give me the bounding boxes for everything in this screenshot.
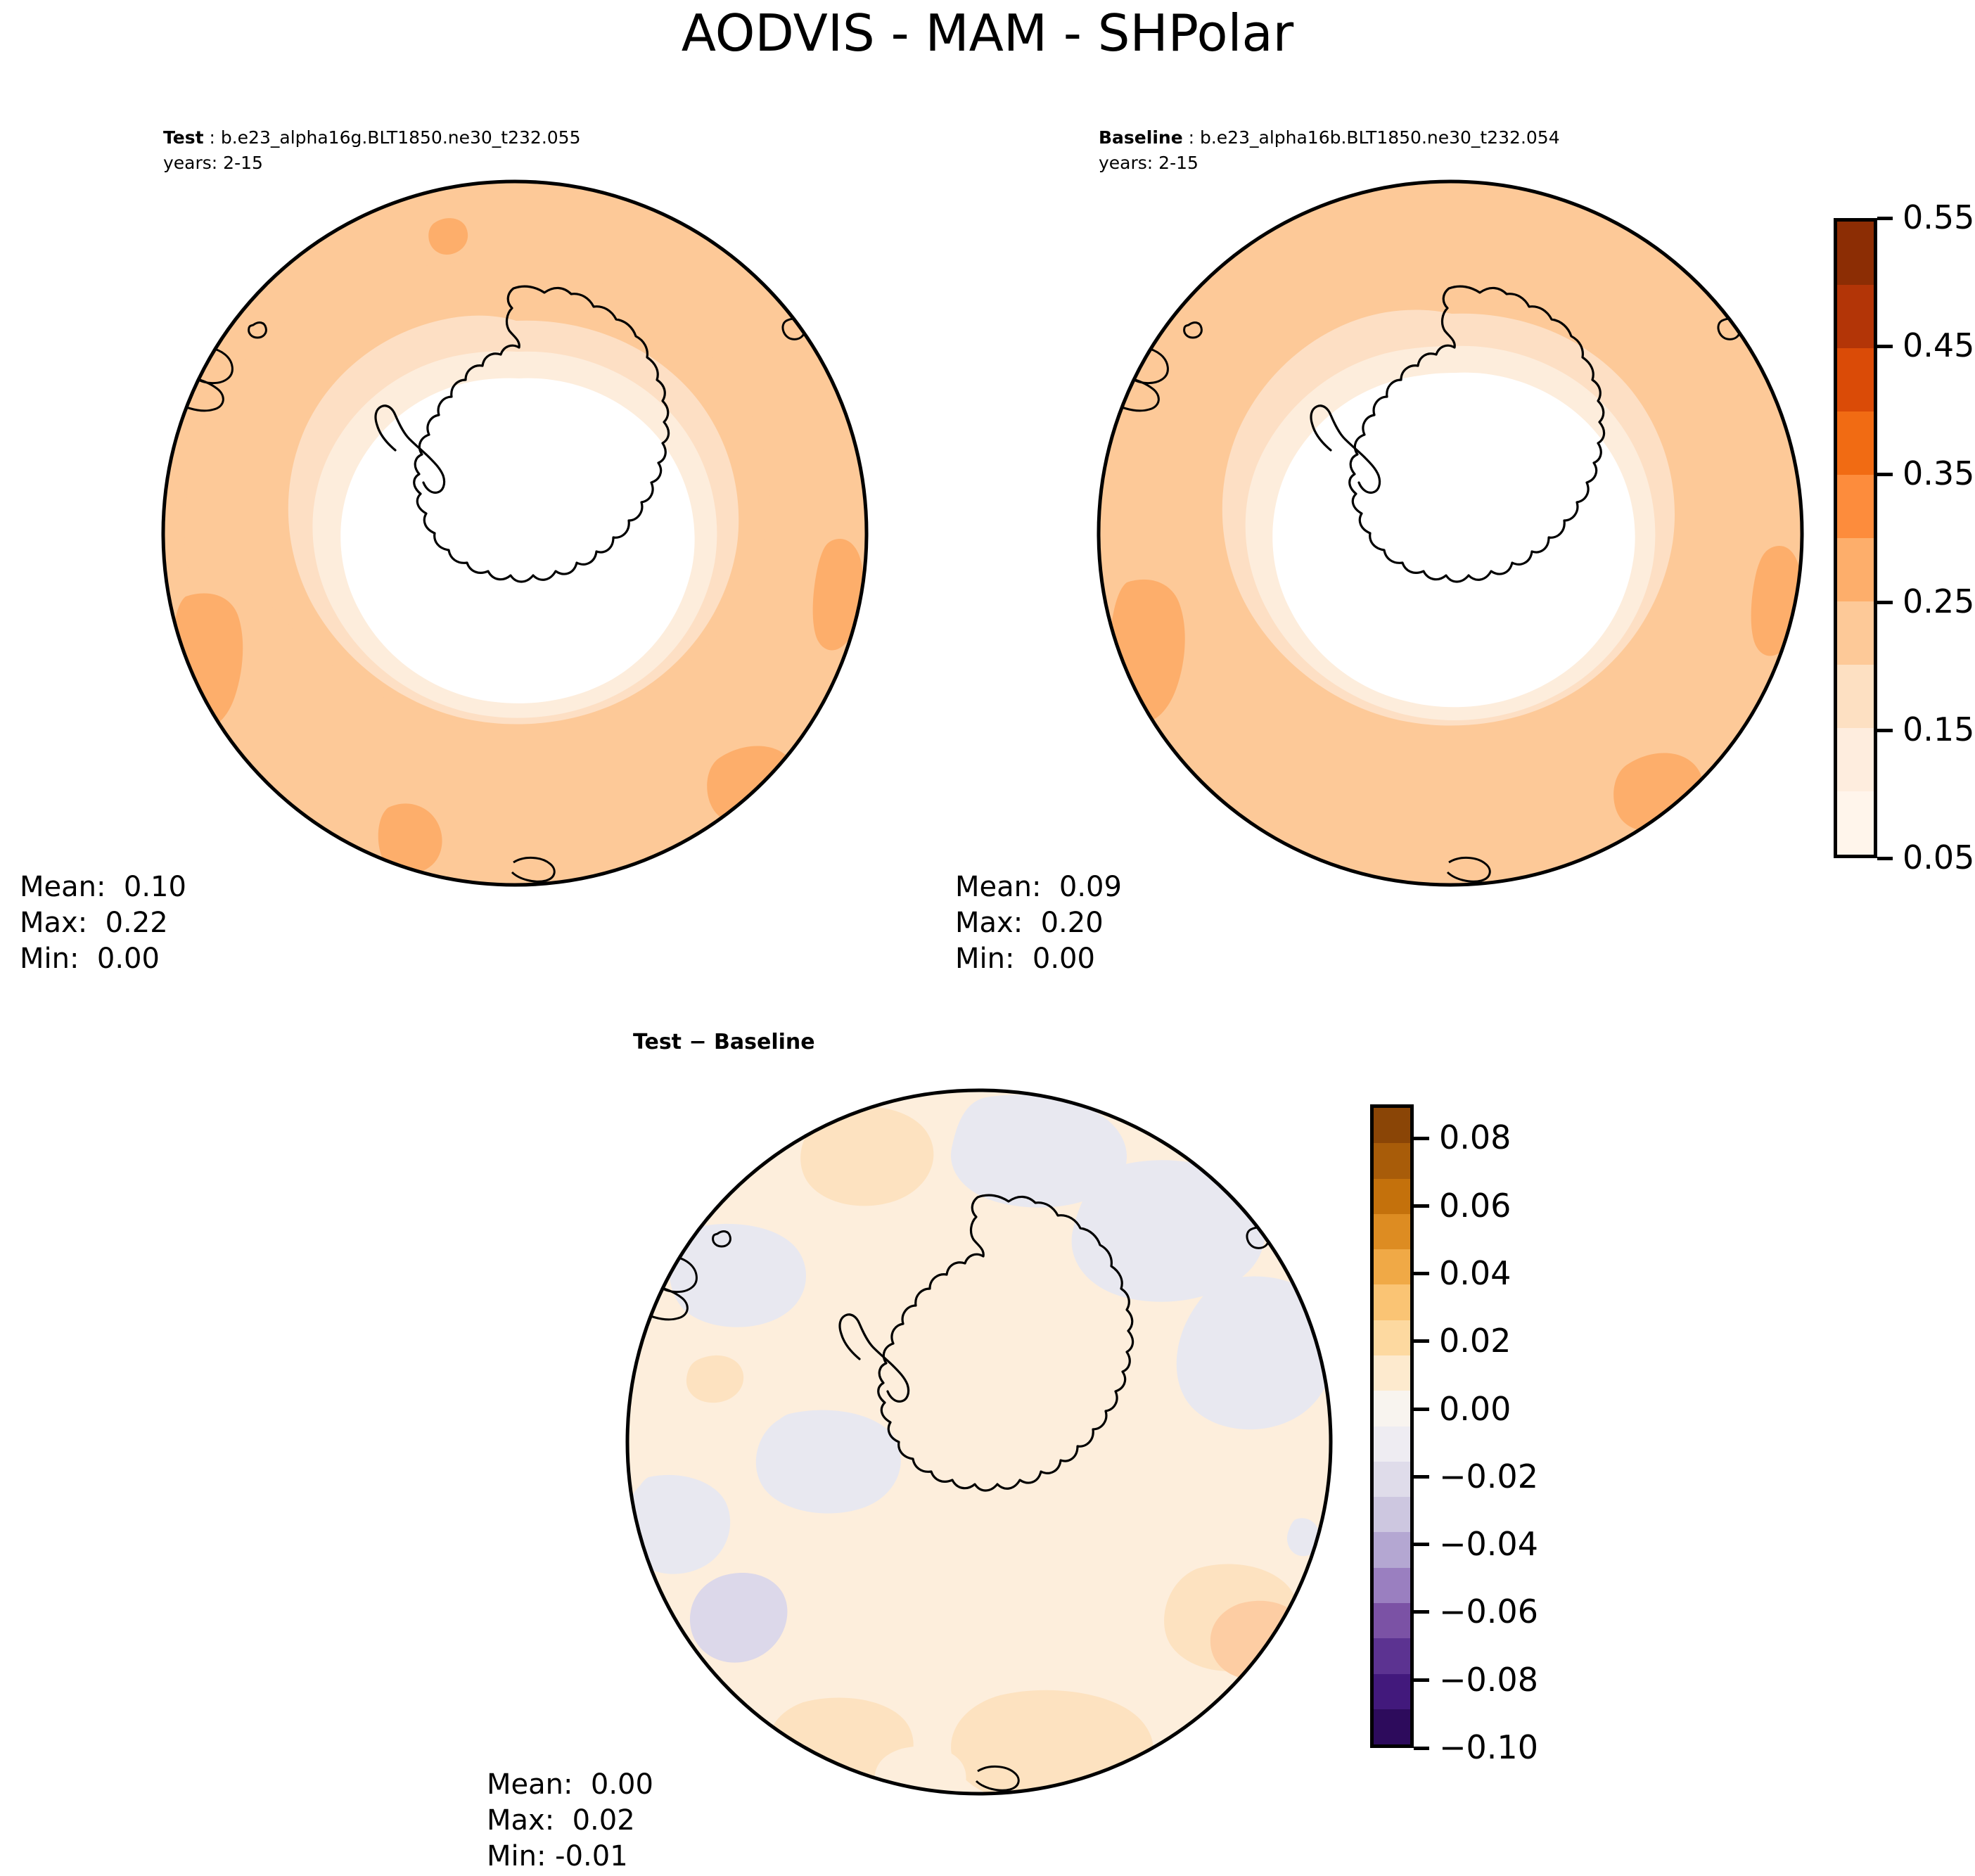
- difference-colorbar: 0.080.060.040.020.00−0.02−0.04−0.06−0.08…: [1370, 1104, 1553, 1748]
- test-caption-separator: :: [204, 127, 221, 148]
- colorbar-band-8: [1837, 728, 1874, 791]
- colorbar-band-4: [1374, 1249, 1410, 1284]
- colorbar-band-5: [1837, 538, 1874, 601]
- baseline-map-svg: [1092, 174, 1809, 892]
- colorbar-tick-label: −0.06: [1439, 1595, 1538, 1628]
- difference-colorbar-bands[interactable]: [1370, 1104, 1414, 1748]
- test-panel-caption: Test : b.e23_alpha16g.BLT1850.ne30_t232.…: [163, 125, 581, 175]
- colorbar-tick-mark: [1877, 601, 1893, 604]
- baseline-map-panel: [1092, 174, 1809, 892]
- difference-colorbar-ticks: 0.080.060.040.020.00−0.02−0.04−0.06−0.08…: [1414, 1104, 1554, 1748]
- test-caption-value: b.e23_alpha16g.BLT1850.ne30_t232.055: [221, 127, 581, 148]
- difference-map-svg: [620, 1083, 1338, 1801]
- colorbar-band-3: [1837, 411, 1874, 475]
- colorbar-tick-label: 0.08: [1439, 1121, 1511, 1154]
- colorbar-band-7: [1837, 665, 1874, 728]
- colorbar-band-15: [1374, 1638, 1410, 1673]
- colorbar-tick-mark: [1414, 1408, 1429, 1411]
- colorbar-tick-mark: [1877, 857, 1893, 860]
- colorbar-tick-label: 0.55: [1903, 201, 1974, 234]
- colorbar-band-8: [1374, 1391, 1410, 1426]
- colorbar-tick-mark: [1414, 1543, 1429, 1546]
- colorbar-band-0: [1374, 1108, 1410, 1143]
- colorbar-tick-mark: [1877, 729, 1893, 732]
- colorbar-band-7: [1374, 1355, 1410, 1391]
- colorbar-band-3: [1374, 1214, 1410, 1249]
- main-colorbar-bands[interactable]: [1834, 218, 1877, 858]
- colorbar-tick-mark: [1414, 1475, 1429, 1479]
- colorbar-tick-mark: [1414, 1137, 1429, 1140]
- colorbar-band-2: [1374, 1179, 1410, 1214]
- test-map-panel: [156, 174, 874, 892]
- colorbar-band-0: [1837, 222, 1874, 285]
- difference-stats: Mean: 0.00 Max: 0.02 Min: -0.01: [487, 1767, 653, 1875]
- baseline-panel-caption: Baseline : b.e23_alpha16b.BLT1850.ne30_t…: [1099, 125, 1560, 175]
- colorbar-band-14: [1374, 1603, 1410, 1638]
- colorbar-tick-label: 0.05: [1903, 841, 1974, 874]
- colorbar-tick-label: 0.15: [1903, 713, 1974, 746]
- colorbar-band-1: [1837, 285, 1874, 348]
- colorbar-tick-label: 0.45: [1903, 329, 1974, 362]
- colorbar-band-9: [1374, 1427, 1410, 1462]
- baseline-stats: Mean: 0.09 Max: 0.20 Min: 0.00: [955, 869, 1122, 978]
- colorbar-tick-label: −0.08: [1439, 1664, 1538, 1696]
- baseline-caption-value: b.e23_alpha16b.BLT1850.ne30_t232.054: [1200, 127, 1560, 148]
- baseline-caption-key: Baseline: [1099, 127, 1183, 148]
- colorbar-tick-mark: [1877, 473, 1893, 476]
- colorbar-tick-label: 0.06: [1439, 1189, 1511, 1222]
- colorbar-band-13: [1374, 1568, 1410, 1603]
- difference-panel-title: Test − Baseline: [633, 1030, 815, 1054]
- colorbar-band-6: [1374, 1320, 1410, 1355]
- colorbar-band-17: [1374, 1709, 1410, 1744]
- colorbar-tick-mark: [1414, 1610, 1429, 1614]
- colorbar-tick-label: 0.02: [1439, 1325, 1511, 1357]
- colorbar-tick-label: −0.04: [1439, 1528, 1538, 1560]
- baseline-caption-separator: :: [1183, 127, 1200, 148]
- colorbar-tick-mark: [1414, 1678, 1429, 1682]
- colorbar-tick-mark: [1414, 1204, 1429, 1208]
- colorbar-band-10: [1374, 1462, 1410, 1497]
- colorbar-band-2: [1837, 348, 1874, 411]
- colorbar-tick-label: 0.35: [1903, 457, 1974, 490]
- colorbar-tick-label: −0.10: [1439, 1731, 1538, 1763]
- colorbar-tick-mark: [1414, 1747, 1429, 1750]
- main-colorbar: 0.550.450.350.250.150.05: [1834, 218, 1974, 858]
- main-colorbar-ticks: 0.550.450.350.250.150.05: [1877, 218, 1975, 858]
- colorbar-tick-label: 0.00: [1439, 1393, 1511, 1425]
- colorbar-band-1: [1374, 1143, 1410, 1178]
- colorbar-band-12: [1374, 1532, 1410, 1567]
- colorbar-band-16: [1374, 1674, 1410, 1709]
- colorbar-tick-mark: [1877, 345, 1893, 348]
- colorbar-band-9: [1837, 791, 1874, 855]
- colorbar-band-4: [1837, 475, 1874, 538]
- test-map-svg: [156, 174, 874, 892]
- colorbar-tick-mark: [1414, 1272, 1429, 1275]
- test-stats: Mean: 0.10 Max: 0.22 Min: 0.00: [20, 869, 186, 978]
- difference-map-panel: [620, 1083, 1338, 1801]
- colorbar-tick-mark: [1877, 217, 1893, 220]
- colorbar-tick-label: 0.25: [1903, 585, 1974, 618]
- test-caption-years: years: 2-15: [163, 151, 581, 176]
- test-caption-key: Test: [163, 127, 204, 148]
- colorbar-tick-mark: [1414, 1339, 1429, 1343]
- colorbar-band-6: [1837, 601, 1874, 665]
- colorbar-tick-label: −0.02: [1439, 1460, 1538, 1493]
- colorbar-band-11: [1374, 1497, 1410, 1532]
- figure-title: AODVIS - MAM - SHPolar: [0, 7, 1975, 60]
- baseline-caption-years: years: 2-15: [1099, 151, 1560, 176]
- colorbar-band-5: [1374, 1284, 1410, 1320]
- colorbar-tick-label: 0.04: [1439, 1257, 1511, 1289]
